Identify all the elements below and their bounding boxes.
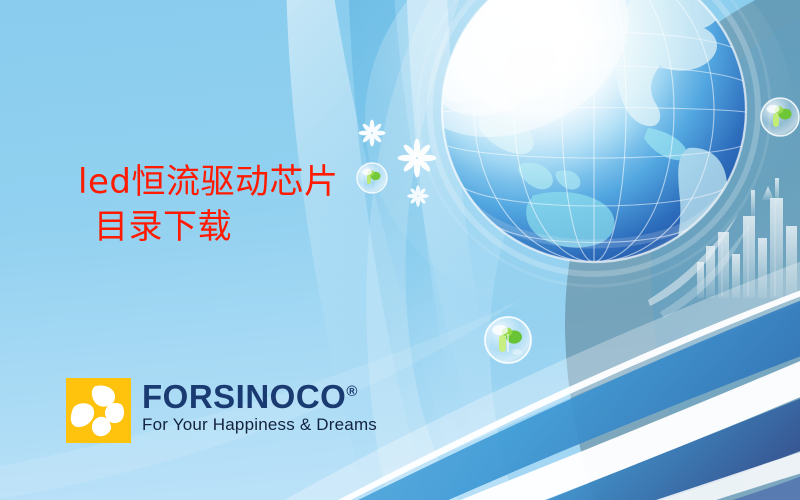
- logo-tagline: For Your Happiness & Dreams: [142, 416, 377, 435]
- four-petal-pinwheel-icon: [66, 378, 131, 443]
- company-logo: FORSINOCO® For Your Happiness & Dreams: [66, 378, 377, 443]
- bubble-with-sprout: [485, 317, 531, 363]
- headline-text: led恒流驱动芯片 目录下载: [78, 160, 418, 250]
- slide-canvas: led恒流驱动芯片 目录下载 FORSINOCO®: [0, 0, 800, 500]
- headline-line-1: led恒流驱动芯片: [78, 160, 418, 205]
- logo-wordmark-text: FORSINOCO: [142, 378, 346, 415]
- logo-mark-square: [66, 378, 131, 443]
- logo-text-block: FORSINOCO® For Your Happiness & Dreams: [142, 378, 377, 435]
- registered-trademark-symbol: ®: [346, 383, 357, 400]
- logo-wordmark: FORSINOCO®: [142, 380, 377, 413]
- bubble-with-sprout: [761, 98, 799, 136]
- headline-line-2: 目录下载: [78, 205, 418, 250]
